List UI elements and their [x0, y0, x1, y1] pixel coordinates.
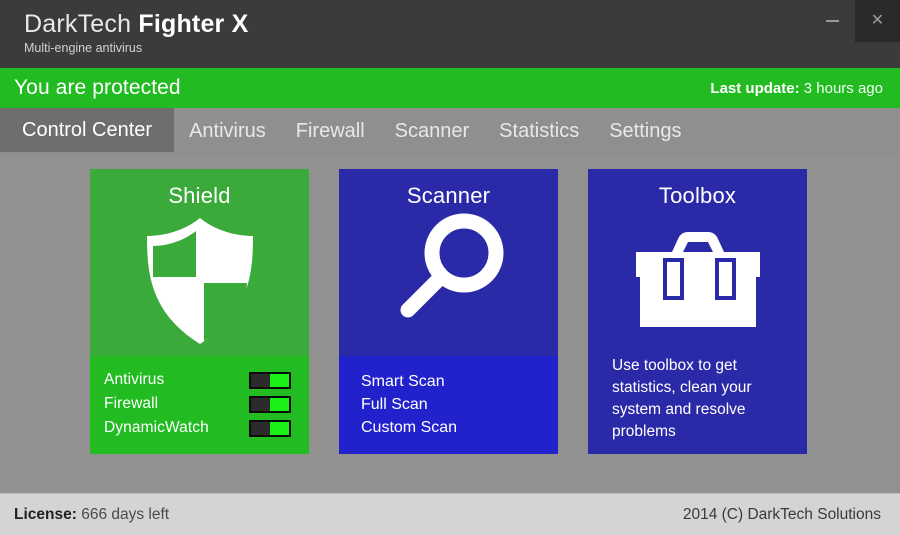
license-value: 666 days left [81, 506, 169, 523]
shield-icon [139, 215, 261, 352]
switch-row-antivirus[interactable]: Antivirus [104, 368, 295, 392]
toggle-antivirus[interactable] [249, 372, 291, 389]
app-subtitle: Multi-engine antivirus [24, 40, 249, 56]
toggle-off-half [251, 374, 270, 387]
switch-row-dynamicwatch[interactable]: DynamicWatch [104, 416, 295, 440]
status-footer: License: 666 days left 2014 (C) DarkTech… [0, 493, 900, 535]
magnifier-icon [388, 211, 510, 334]
copyright-text: 2014 (C) DarkTech Solutions [683, 506, 881, 524]
protection-status-text: You are protected [14, 76, 181, 100]
scan-option-full[interactable]: Full Scan [361, 393, 558, 416]
toggle-firewall[interactable] [249, 396, 291, 413]
switch-label-antivirus: Antivirus [104, 371, 164, 389]
close-icon: ✕ [871, 13, 884, 29]
protection-status-bar: You are protected Last update: 3 hours a… [0, 68, 900, 108]
toggle-on-half [270, 398, 289, 411]
tile-scanner[interactable]: Scanner Smart Scan Full Scan Custom Scan [339, 169, 558, 454]
app-title: DarkTech Fighter X [24, 9, 249, 39]
scanner-tile-options: Smart Scan Full Scan Custom Scan [339, 356, 558, 454]
content-area: Shield Antivirus [0, 155, 900, 493]
tile-shield[interactable]: Shield Antivirus [90, 169, 309, 454]
app-title-bold: Fighter X [138, 10, 248, 38]
tab-settings[interactable]: Settings [594, 108, 696, 155]
tab-statistics[interactable]: Statistics [484, 108, 594, 155]
toolbox-description: Use toolbox to get statistics, clean you… [588, 337, 807, 443]
toolbox-icon [628, 227, 768, 337]
app-branding: DarkTech Fighter X Multi-engine antiviru… [24, 9, 249, 56]
toolbox-tile-body: Toolbox Use toolbox to get statistics, c… [588, 169, 807, 454]
close-button[interactable]: ✕ [855, 0, 900, 42]
toggle-on-half [270, 374, 289, 387]
title-bar: DarkTech Fighter X Multi-engine antiviru… [0, 0, 900, 68]
tab-antivirus[interactable]: Antivirus [174, 108, 281, 155]
toolbox-tile-title: Toolbox [659, 169, 736, 209]
scanner-tile-header: Scanner [339, 169, 558, 356]
scan-option-custom[interactable]: Custom Scan [361, 416, 558, 439]
last-update-value: 3 hours ago [804, 80, 883, 97]
minimize-icon [826, 20, 839, 22]
window-controls: ✕ [810, 0, 900, 42]
tab-control-center[interactable]: Control Center [0, 108, 174, 152]
license-label: License: [14, 506, 77, 523]
navigation-tabs: Control Center Antivirus Firewall Scanne… [0, 108, 900, 155]
scanner-tile-title: Scanner [407, 169, 490, 209]
license-info: License: 666 days left [14, 506, 169, 524]
toggle-off-half [251, 422, 270, 435]
switch-label-dynamicwatch: DynamicWatch [104, 419, 209, 437]
last-update-label: Last update: [710, 80, 799, 97]
app-title-light: DarkTech [24, 10, 131, 38]
scan-option-smart[interactable]: Smart Scan [361, 370, 558, 393]
shield-tile-title: Shield [168, 169, 230, 209]
toggle-dynamicwatch[interactable] [249, 420, 291, 437]
toggle-off-half [251, 398, 270, 411]
tile-grid: Shield Antivirus [90, 169, 807, 454]
application-window: DarkTech Fighter X Multi-engine antiviru… [0, 0, 900, 535]
shield-tile-header: Shield [90, 169, 309, 356]
tile-toolbox[interactable]: Toolbox Use toolbox to get statistics, c… [588, 169, 807, 454]
minimize-button[interactable] [810, 0, 855, 42]
shield-tile-switches: Antivirus Firewall D [90, 356, 309, 454]
switch-label-firewall: Firewall [104, 395, 158, 413]
tab-scanner[interactable]: Scanner [380, 108, 485, 155]
toggle-on-half [270, 422, 289, 435]
switch-row-firewall[interactable]: Firewall [104, 392, 295, 416]
last-update-info: Last update: 3 hours ago [710, 80, 883, 97]
tab-firewall[interactable]: Firewall [281, 108, 380, 155]
